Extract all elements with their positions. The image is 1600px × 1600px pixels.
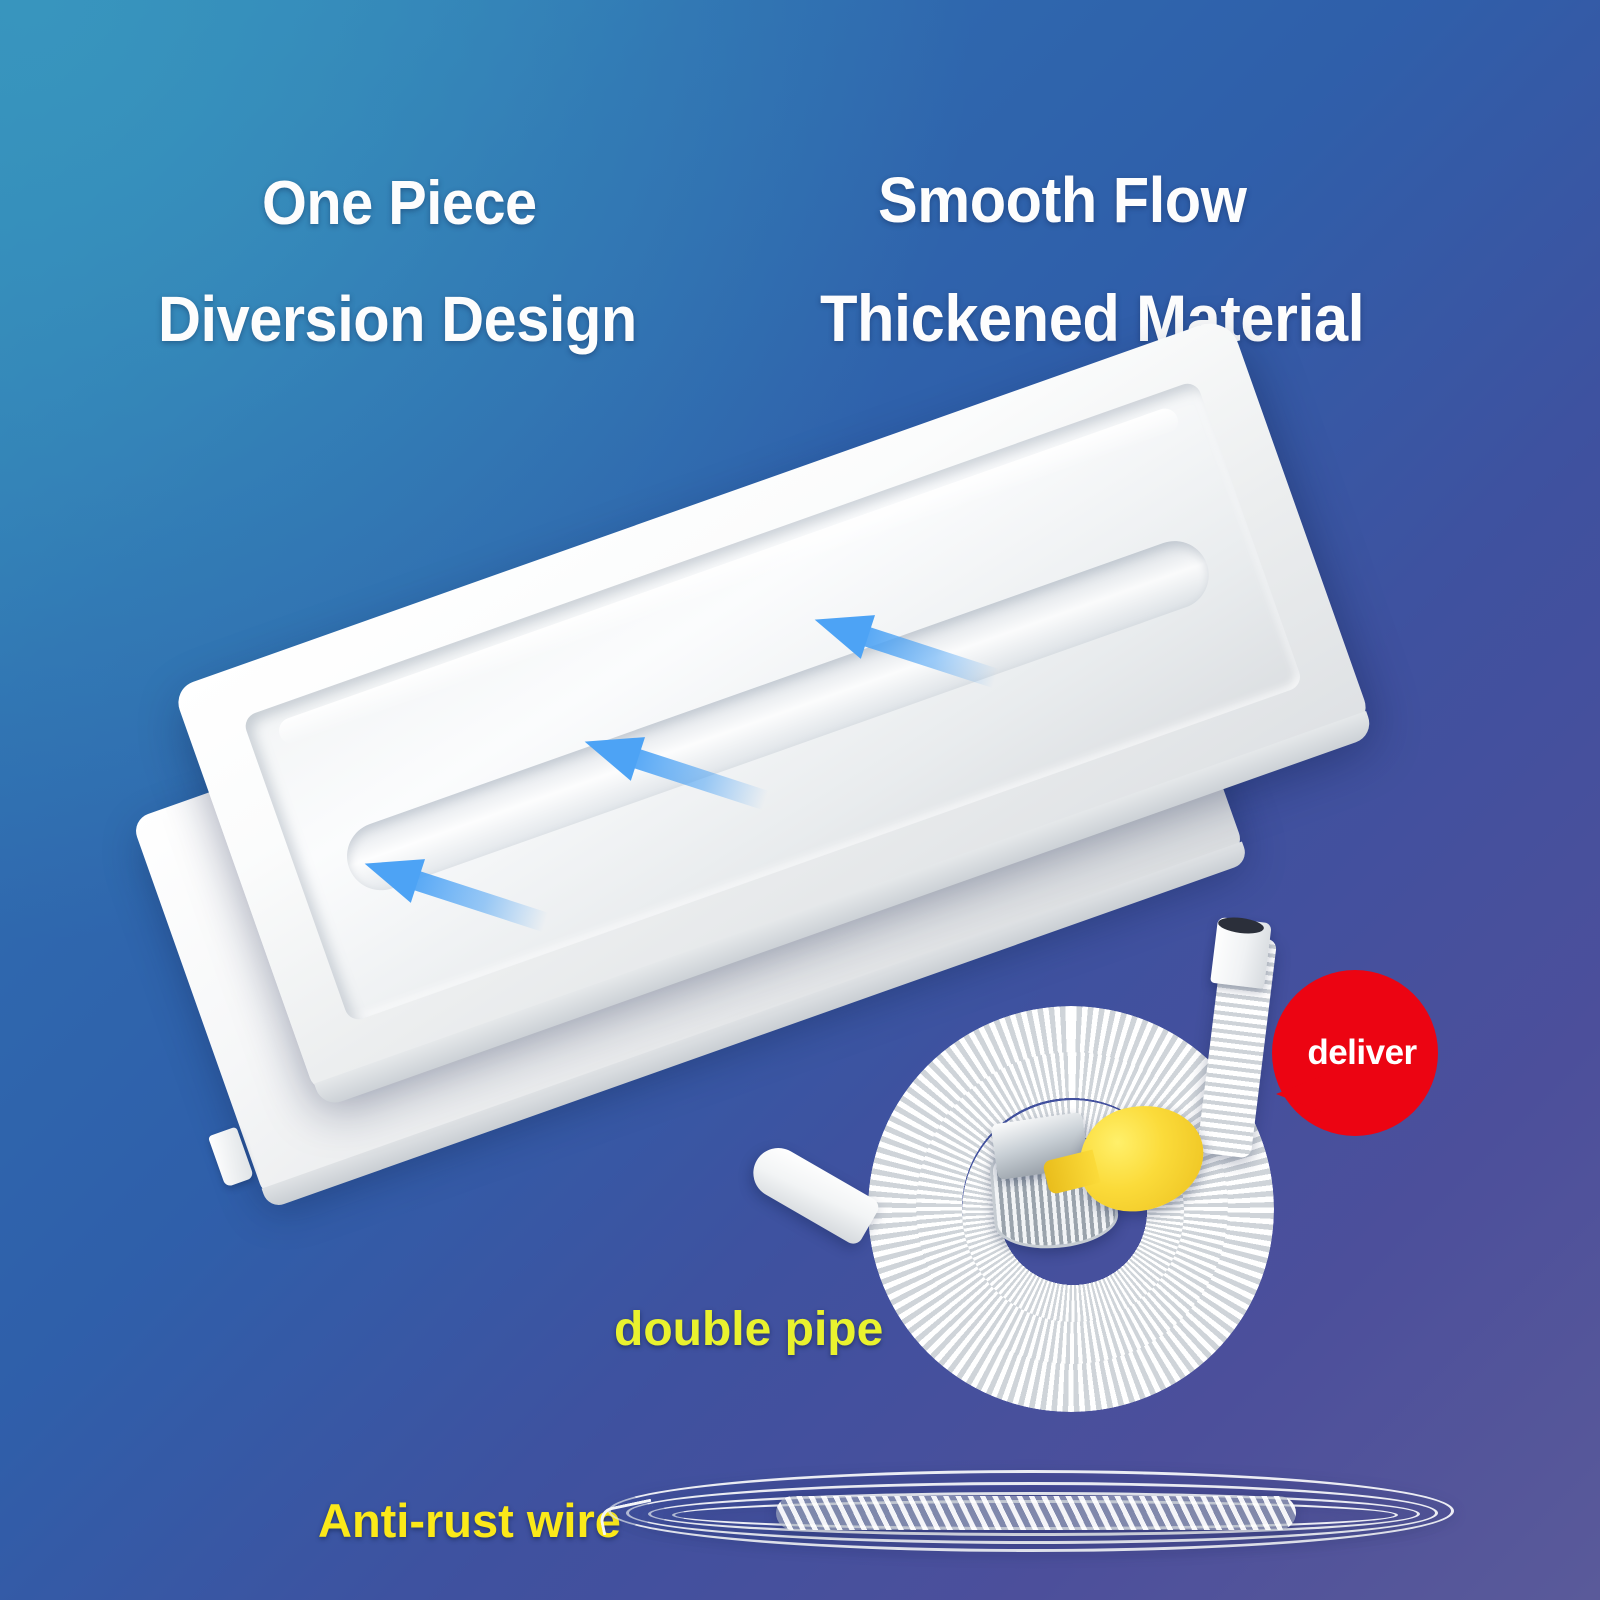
headline-thickened-material: Thickened Material (820, 280, 1364, 356)
product-marketing-image: One Piece Smooth Flow Diversion Design T… (0, 0, 1600, 1600)
wire-twisted-midsection (776, 1496, 1296, 1530)
headline-one-piece: One Piece (262, 168, 537, 239)
wire-end-tip (598, 1499, 656, 1536)
label-anti-rust-wire: Anti-rust wire (318, 1493, 621, 1548)
deliver-badge: deliver (1272, 970, 1438, 1136)
headline-block: One Piece Smooth Flow Diversion Design T… (0, 0, 1600, 400)
headline-smooth-flow: Smooth Flow (878, 163, 1246, 237)
hose-free-end-nozzle (744, 1139, 882, 1247)
label-double-pipe: double pipe (614, 1302, 883, 1357)
headline-diversion-design: Diversion Design (158, 282, 637, 356)
badge-label: deliver (1272, 970, 1438, 1136)
anti-rust-wire-bundle (596, 1452, 1476, 1600)
drain-hose-assembly (740, 900, 1360, 1460)
